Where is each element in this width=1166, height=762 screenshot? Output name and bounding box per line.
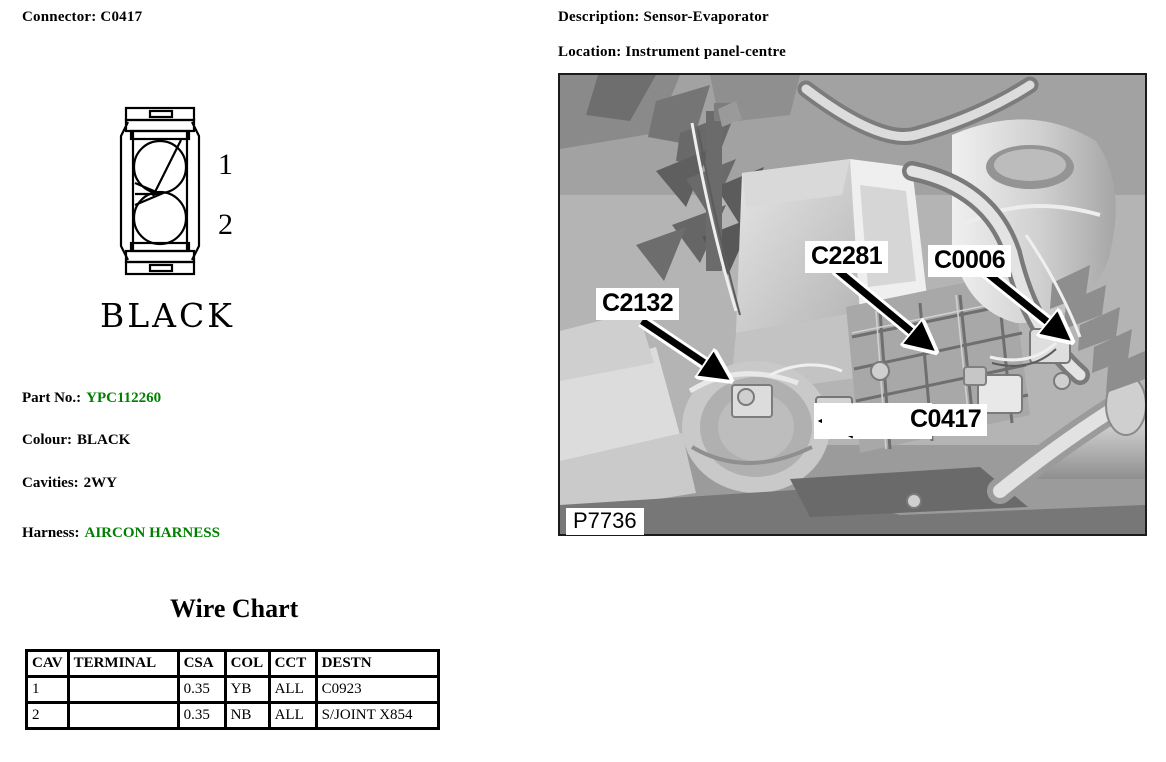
column-header-cav: CAV [27, 651, 69, 677]
attribute-cavities: Cavities:2WY [22, 475, 117, 492]
attribute-harness-label: Harness: [22, 525, 80, 541]
cell-terminal [68, 703, 178, 729]
table-row: 2 0.35 NB ALL S/JOINT X854 [27, 703, 439, 729]
attribute-colour: Colour:BLACK [22, 432, 130, 449]
callout-label-c0006: C0006 [928, 245, 1011, 277]
callout-label-c2281: C2281 [805, 241, 888, 273]
column-header-cct: CCT [269, 651, 316, 677]
attribute-part-number: Part No.:YPC112260 [22, 390, 161, 407]
callout-label-c0417: C0417 [822, 404, 987, 436]
location-heading: Location: Instrument panel-centre [558, 44, 786, 61]
table-row: 1 0.35 YB ALL C0923 [27, 677, 439, 703]
attribute-part-number-label: Part No.: [22, 390, 81, 406]
column-header-terminal: TERMINAL [68, 651, 178, 677]
cell-cct: ALL [269, 677, 316, 703]
column-header-csa: CSA [178, 651, 225, 677]
column-header-col: COL [225, 651, 269, 677]
attribute-harness-value: AIRCON HARNESS [85, 525, 220, 541]
attribute-cavities-value: 2WY [84, 475, 117, 491]
pin-number-2: 2 [218, 210, 233, 240]
attribute-colour-value: BLACK [77, 432, 130, 448]
column-header-destn: DESTN [316, 651, 438, 677]
attribute-colour-label: Colour: [22, 432, 72, 448]
table-header-row: CAV TERMINAL CSA COL CCT DESTN [27, 651, 439, 677]
connector-pinout-drawing [95, 100, 275, 280]
connector-colour-caption: BLACK [100, 296, 235, 335]
cell-csa: 0.35 [178, 703, 225, 729]
wire-chart-title: Wire Chart [170, 594, 298, 624]
cell-col: NB [225, 703, 269, 729]
cell-col: YB [225, 677, 269, 703]
cell-cav: 1 [27, 677, 69, 703]
cell-cav: 2 [27, 703, 69, 729]
photo-reference-tag: P7736 [566, 508, 644, 535]
cell-cct: ALL [269, 703, 316, 729]
wire-chart-table: CAV TERMINAL CSA COL CCT DESTN 1 0.35 YB… [25, 649, 440, 730]
cell-csa: 0.35 [178, 677, 225, 703]
attribute-harness: Harness:AIRCON HARNESS [22, 525, 220, 542]
pin-number-1: 1 [218, 150, 233, 180]
cell-terminal [68, 677, 178, 703]
attribute-cavities-label: Cavities: [22, 475, 79, 491]
connector-heading: Connector: C0417 [22, 9, 142, 26]
description-heading: Description: Sensor-Evaporator [558, 9, 769, 26]
wiring-diagram-page: Connector: C0417 [0, 0, 1166, 762]
attribute-part-number-value: YPC112260 [86, 390, 161, 406]
cell-destn: C0923 [316, 677, 438, 703]
cell-destn: S/JOINT X854 [316, 703, 438, 729]
callout-label-c2132: C2132 [596, 288, 679, 320]
